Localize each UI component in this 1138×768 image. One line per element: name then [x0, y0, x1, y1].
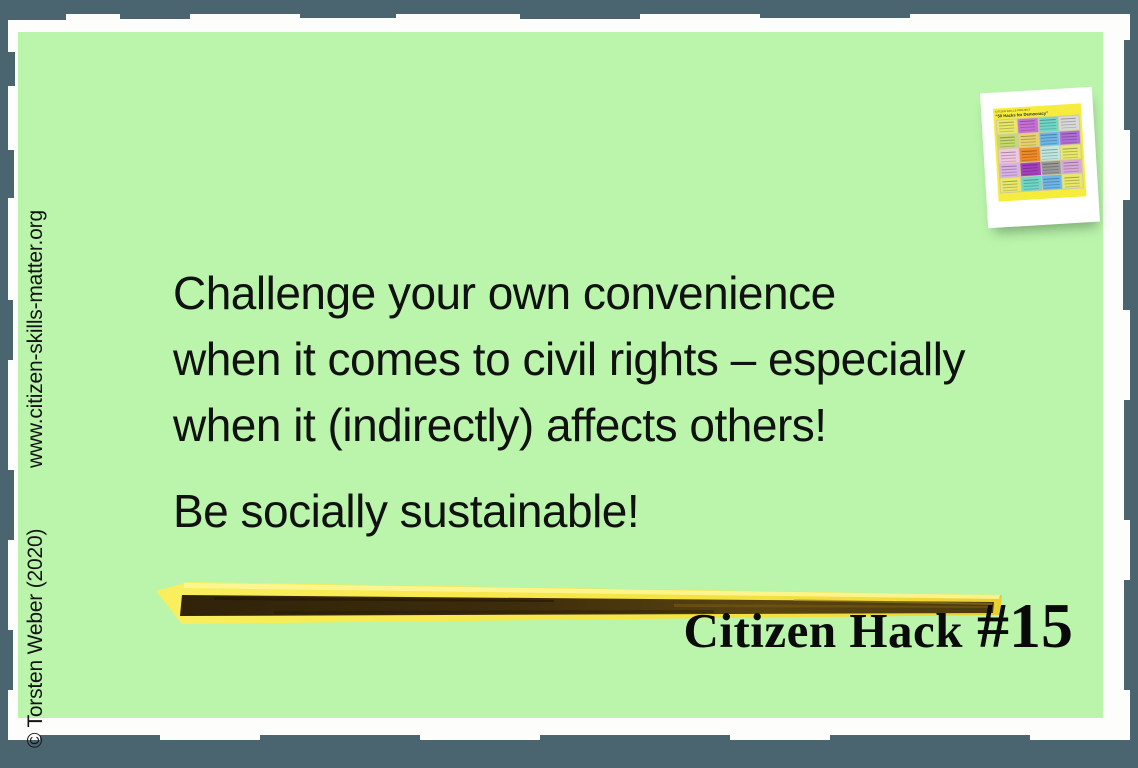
poster-sticky-note [1060, 130, 1081, 145]
copyright-notice: © Torsten Weber (2020) [24, 529, 48, 748]
paper-edge-nick [300, 14, 396, 18]
poster-sticky-note [1061, 159, 1082, 174]
poster-artwork: CITIZEN SKILLS PROJECT “50 Hacks for Dem… [993, 103, 1087, 201]
screenshot-root: www.citizen-skills-matter.org © Torsten … [0, 0, 1138, 768]
poster-sticky-note [1000, 178, 1021, 193]
poster-thumbnail-frame: CITIZEN SKILLS PROJECT “50 Hacks for Dem… [980, 87, 1100, 229]
poster-sticky-note [1062, 174, 1083, 189]
paper-edge-nick [760, 14, 910, 18]
poster-sticky-note [1018, 133, 1039, 148]
poster-sticky-note [1041, 161, 1062, 176]
quote-line-2: when it comes to civil rights – especial… [173, 326, 1073, 392]
brand-words: Citizen Hack [683, 602, 963, 659]
quote-block: Challenge your own convenience when it c… [173, 260, 1073, 544]
paper-edge-nick [1124, 40, 1130, 130]
paper-edge-nick [120, 14, 190, 19]
poster-sticky-note [1059, 116, 1080, 131]
poster-sticky-note [1021, 176, 1042, 191]
paper-edge-nick [1123, 200, 1130, 310]
paper-edge-nick [40, 735, 160, 741]
website-url[interactable]: www.citizen-skills-matter.org [24, 210, 48, 468]
paper-edge-nick [1124, 400, 1130, 520]
paper-edge-nick [1124, 580, 1130, 690]
poster-sticky-note [1061, 145, 1082, 160]
poster-sticky-note [1039, 131, 1060, 146]
poster-sticky-note [1017, 118, 1038, 133]
paper-edge-nick [8, 150, 14, 198]
poster-sticky-note [998, 134, 1019, 149]
poster-sticky-note [1038, 117, 1059, 132]
hack-card: www.citizen-skills-matter.org © Torsten … [18, 32, 1103, 718]
poster-sticky-note [1020, 162, 1041, 177]
poster-sticky-note [999, 163, 1020, 178]
quote-line-3: when it (indirectly) affects others! [173, 392, 1073, 458]
hack-number: #15 [977, 589, 1073, 663]
poster-note-grid [996, 115, 1084, 194]
paper-edge-nick [8, 300, 13, 360]
poster-thumbnail[interactable]: CITIZEN SKILLS PROJECT “50 Hacks for Dem… [980, 87, 1100, 229]
paper-edge-nick [8, 52, 15, 86]
poster-sticky-note [998, 149, 1019, 164]
poster-sticky-note [997, 119, 1018, 134]
poster-sticky-note [1040, 146, 1061, 161]
paper-edge-nick [520, 14, 640, 19]
paper-edge-nick [540, 735, 730, 741]
quote-line-4: Be socially sustainable! [173, 478, 1073, 544]
paper-edge-nick [8, 470, 14, 540]
quote-paragraph-gap [173, 458, 1073, 478]
quote-line-1: Challenge your own convenience [173, 260, 1073, 326]
paper-edge-nick [8, 630, 13, 690]
brand-line: Citizen Hack #15 [683, 589, 1073, 663]
paper-edge-nick [8, 14, 66, 20]
poster-sticky-note [1042, 175, 1063, 190]
paper-edge-nick [830, 735, 1030, 740]
poster-sticky-note [1019, 147, 1040, 162]
paper-edge-nick [260, 735, 420, 740]
